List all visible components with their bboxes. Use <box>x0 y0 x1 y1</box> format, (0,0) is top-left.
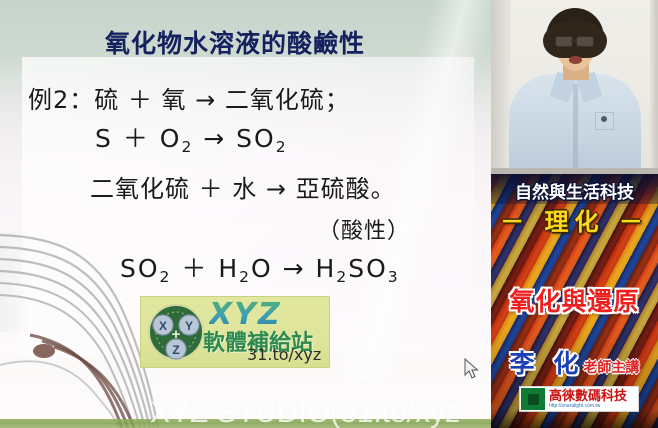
company-logo-text-wrap: 高徠數碼科技 http://soaralight.com.tw <box>549 390 627 409</box>
svg-text:Z: Z <box>172 343 179 357</box>
eq1-arrow-products: → SO <box>193 124 275 153</box>
eq2-sub-d: 3 <box>388 268 400 286</box>
poster-subject-title: 自然與生活科技 <box>491 178 658 203</box>
xyz-url-text: 31.to/xyz <box>247 345 321 364</box>
eq1-subscript-1: 2 <box>181 138 193 156</box>
slide-line-word-equation: 二氧化硫 ＋ 水 → 亞硫酸。 <box>90 169 396 204</box>
eq2-part-c: O → H <box>251 254 336 283</box>
poster-course-title: － 理化 － <box>491 202 658 237</box>
poster-chapter-title: 氧化與還原 <box>491 282 658 318</box>
xyz-watermark-badge: X Y Z + XYZ 軟體補給站 31.to/xyz <box>140 296 330 368</box>
eq2-part-a: SO <box>120 254 160 283</box>
lecturer-mouth <box>569 56 582 64</box>
svg-text:X: X <box>159 319 167 333</box>
slide-line-equation-1: S ＋ O2 → SO2 <box>95 119 288 155</box>
eq2-sub-b: 2 <box>239 268 251 286</box>
glasses-lens-right-icon <box>576 36 594 47</box>
lecturer-shirt-placket <box>573 84 578 174</box>
slide-line-property-label: （酸性） <box>318 213 410 245</box>
camera-wall-right <box>650 0 658 174</box>
slide-line-equation-2: SO2 ＋ H2O → H2SO3 <box>120 249 400 285</box>
company-logo: 高徠數碼科技 http://soaralight.com.tw <box>519 386 639 412</box>
svg-text:+: + <box>172 326 181 343</box>
slide-left-band <box>0 232 30 332</box>
company-name: 高徠數碼科技 <box>549 390 627 403</box>
lecturer-camera-feed <box>491 0 658 174</box>
company-logo-icon-inner <box>528 394 539 405</box>
decorative-leaf <box>33 344 55 358</box>
eq2-sub-c: 2 <box>336 268 348 286</box>
lecturer-video-panel[interactable]: 自然與生活科技 － 理化 － 氧化與還原 李 化老師主講 高徠數碼科技 http… <box>491 0 658 428</box>
camera-wall-left <box>491 0 511 174</box>
slide-title: 氧化物水溶液的酸鹼性 <box>0 24 470 60</box>
slide-line-example: 例2：硫 ＋ 氧 → 二氧化硫； <box>28 80 350 115</box>
company-url: http://soaralight.com.tw <box>549 404 627 409</box>
company-logo-icon <box>521 388 545 410</box>
svg-text:Y: Y <box>185 319 193 333</box>
eq1-reactants: S ＋ O <box>95 124 181 153</box>
lecturer-fringe <box>543 20 607 58</box>
course-title-poster: 自然與生活科技 － 理化 － 氧化與還原 李 化老師主講 高徠數碼科技 http… <box>491 174 658 428</box>
poster-lecturer-role: 老師主講 <box>583 360 639 376</box>
mouse-cursor-icon <box>464 358 480 380</box>
studio-watermark-text: XYZ STUDIO(31.to/xyz <box>150 396 460 428</box>
lecturer-microphone-clip <box>601 116 607 122</box>
poster-lecturer-name: 李 化 <box>510 349 584 378</box>
xyz-logo-icon: X Y Z + <box>147 303 205 361</box>
eq2-sub-a: 2 <box>160 268 172 286</box>
eq2-part-b: ＋ H <box>171 254 239 283</box>
eq1-subscript-2: 2 <box>276 138 288 156</box>
poster-lecturer-line: 李 化老師主講 <box>491 344 658 380</box>
glasses-bridge-icon <box>571 40 576 42</box>
video-lecture-screenshot: 氧化物水溶液的酸鹼性 例2：硫 ＋ 氧 → 二氧化硫； S ＋ O2 → SO2… <box>0 0 658 428</box>
presentation-slide: 氧化物水溶液的酸鹼性 例2：硫 ＋ 氧 → 二氧化硫； S ＋ O2 → SO2… <box>0 0 491 428</box>
poster-bottom-fade <box>491 410 658 428</box>
eq2-part-d: SO <box>348 254 388 283</box>
